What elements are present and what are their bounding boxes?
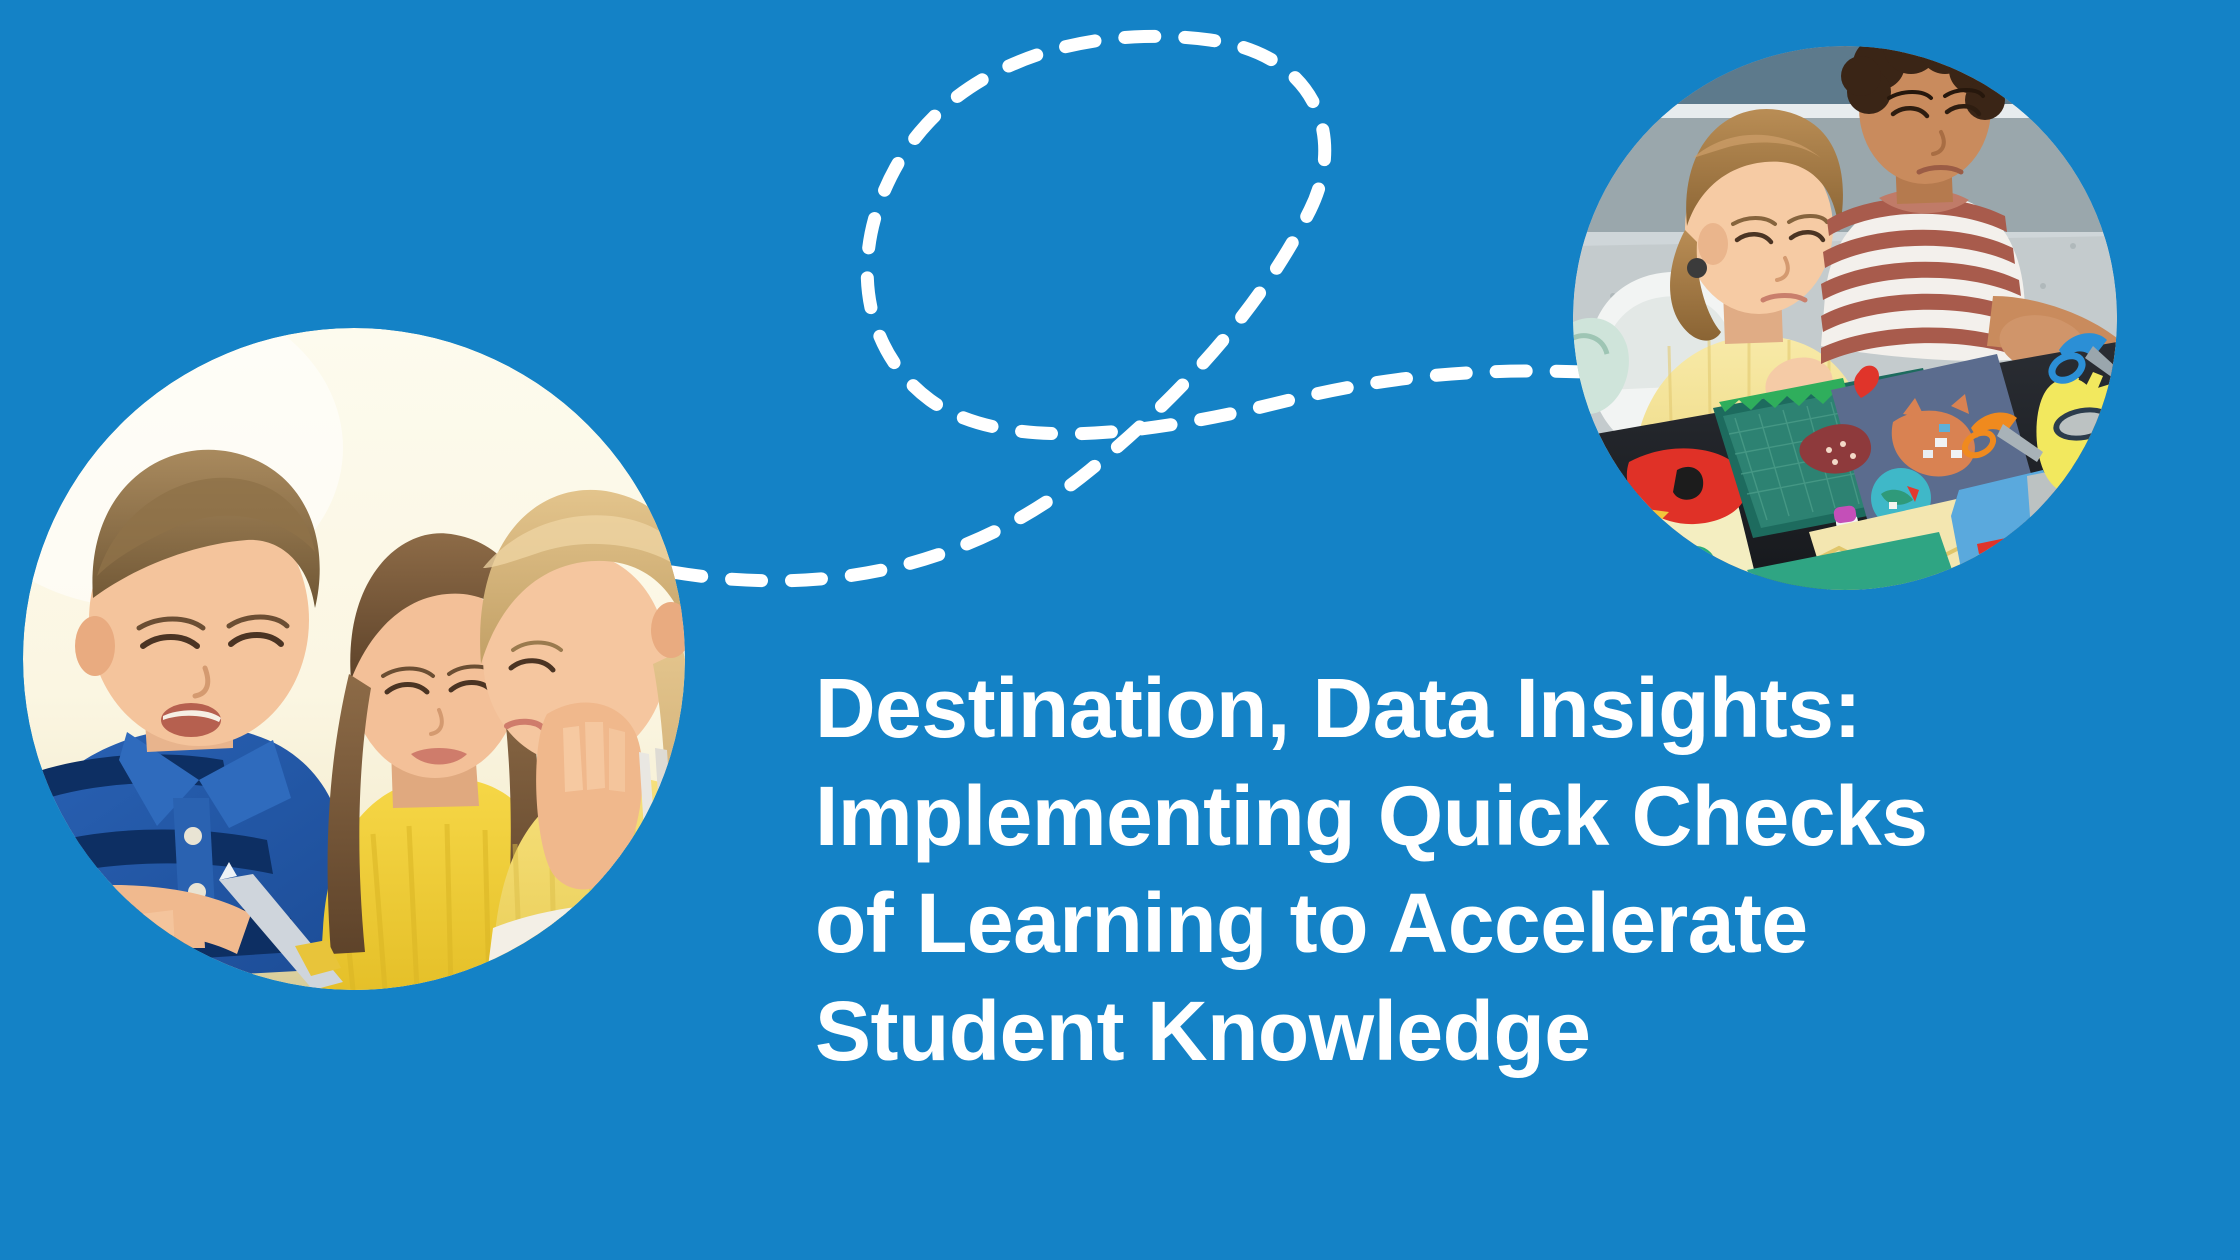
title-line-2: Implementing Quick Checks (815, 763, 2145, 871)
photo-students-crafting (1573, 46, 2117, 590)
page-title: Destination, Data Insights: Implementing… (815, 655, 2145, 1085)
title-line-3: of Learning to Accelerate (815, 870, 2145, 978)
slide-canvas: Destination, Data Insights: Implementing… (0, 0, 2240, 1260)
title-line-1: Destination, Data Insights: (815, 655, 2145, 763)
photo-students-studying (23, 328, 685, 990)
title-line-4: Student Knowledge (815, 978, 2145, 1086)
